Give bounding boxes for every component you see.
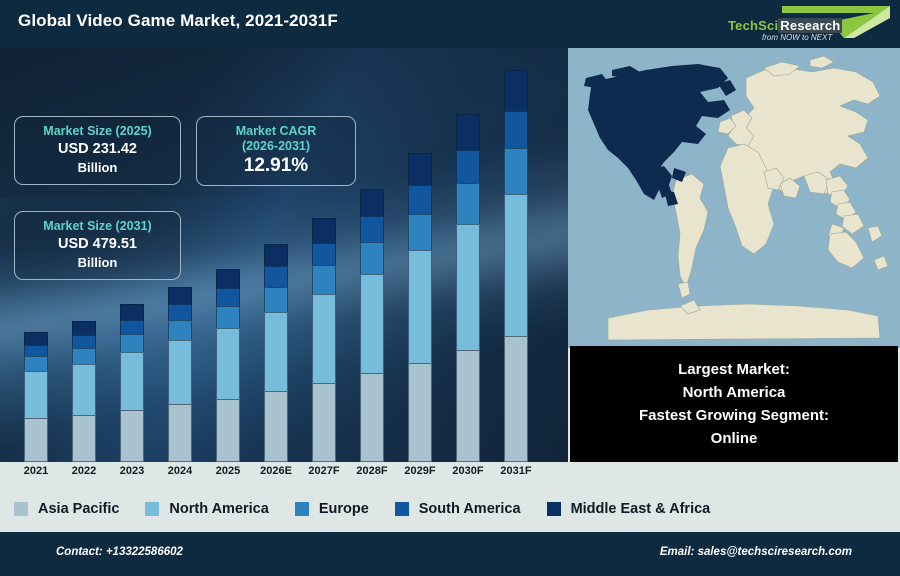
bar-segment-2022-asia-pacific (72, 415, 96, 462)
bar-segment-2022-north-america (72, 364, 96, 415)
bar-segment-2026E-europe (264, 287, 288, 313)
logo-tagline: from NOW to NEXT (762, 33, 832, 42)
logo-text-techsci: TechSci (728, 18, 778, 33)
legend-swatch-icon (547, 502, 561, 516)
bar-segment-2024-asia-pacific (168, 404, 192, 462)
footer-bar: Contact: +13322586602 Email: sales@techs… (0, 532, 900, 576)
techsci-research-logo: TechSciResearch from NOW to NEXT (722, 4, 892, 44)
x-axis-label-2027F: 2027F (297, 465, 351, 477)
highlight-fastest-segment-value: Online (711, 427, 758, 450)
bar-segment-2024-europe (168, 320, 192, 340)
bar-segment-2029F-south-america (408, 185, 432, 214)
bar-segment-2031F-asia-pacific (504, 336, 528, 462)
bar-segment-2021-asia-pacific (24, 418, 48, 462)
bar-segment-2027F-asia-pacific (312, 383, 336, 462)
chart-panel: Market Size (2025) USD 231.42 Billion Ma… (0, 48, 568, 462)
bar-segment-2023-north-america (120, 352, 144, 410)
legend-swatch-icon (145, 502, 159, 516)
x-axis-label-2028F: 2028F (345, 465, 399, 477)
bar-segment-2027F-south-america (312, 243, 336, 265)
bar-segment-2026E-asia-pacific (264, 391, 288, 462)
highlight-largest-market-label: Largest Market: (678, 358, 790, 381)
legend-item-asia-pacific[interactable]: Asia Pacific (14, 501, 119, 517)
bar-segment-2029F-north-america (408, 250, 432, 362)
x-axis-label-2030F: 2030F (441, 465, 495, 477)
bar-segment-2025-south-america (216, 288, 240, 306)
bar-segment-2028F-asia-pacific (360, 373, 384, 462)
bar-segment-2029F-europe (408, 214, 432, 250)
bar-segment-2027F-north-america (312, 294, 336, 383)
bar-segment-2030F-middle-east-africa (456, 114, 480, 150)
legend-label: North America (169, 501, 268, 517)
bar-2023 (120, 304, 144, 462)
bar-segment-2024-south-america (168, 304, 192, 320)
bar-segment-2023-europe (120, 334, 144, 352)
stacked-bar-plot (0, 48, 568, 462)
bar-segment-2028F-north-america (360, 274, 384, 373)
bar-segment-2025-middle-east-africa (216, 269, 240, 288)
x-axis-label-2023: 2023 (105, 465, 159, 477)
bar-segment-2029F-asia-pacific (408, 363, 432, 462)
bar-segment-2025-north-america (216, 328, 240, 399)
bar-2025 (216, 269, 240, 462)
legend-item-middle-east-africa[interactable]: Middle East & Africa (547, 501, 711, 517)
highlight-fastest-segment-label: Fastest Growing Segment: (639, 404, 829, 427)
x-axis-label-2025: 2025 (201, 465, 255, 477)
bar-segment-2022-south-america (72, 335, 96, 348)
bar-2022 (72, 321, 96, 462)
bar-segment-2028F-south-america (360, 216, 384, 242)
logo-wordmark: TechSciResearch (728, 18, 842, 33)
x-axis-label-2029F: 2029F (393, 465, 447, 477)
bar-segment-2023-middle-east-africa (120, 304, 144, 320)
bar-segment-2028F-middle-east-africa (360, 189, 384, 217)
world-map (568, 48, 900, 348)
legend-swatch-icon (295, 502, 309, 516)
chart-legend: Asia PacificNorth AmericaEuropeSouth Ame… (0, 486, 900, 532)
bar-segment-2026E-south-america (264, 266, 288, 286)
bar-segment-2031F-south-america (504, 111, 528, 148)
legend-item-north-america[interactable]: North America (145, 501, 268, 517)
legend-label: Europe (319, 501, 369, 517)
bar-segment-2027F-europe (312, 265, 336, 294)
legend-label: Asia Pacific (38, 501, 119, 517)
bar-segment-2025-europe (216, 306, 240, 328)
footer-contact: Contact: +13322586602 (56, 546, 183, 558)
bar-segment-2022-middle-east-africa (72, 321, 96, 335)
bar-segment-2021-south-america (24, 345, 48, 357)
bar-segment-2030F-south-america (456, 150, 480, 183)
bar-2027F (312, 218, 336, 462)
highlight-panel: Largest Market: North America Fastest Gr… (570, 346, 898, 462)
x-axis-label-2031F: 2031F (489, 465, 543, 477)
bar-segment-2023-south-america (120, 320, 144, 334)
x-axis-label-2021: 2021 (9, 465, 63, 477)
x-axis: 202120222023202420252026E2027F2028F2029F… (0, 462, 568, 486)
x-axis-label-2026E: 2026E (249, 465, 303, 477)
bar-segment-2026E-middle-east-africa (264, 244, 288, 266)
footer-email: Email: sales@techsciresearch.com (660, 546, 852, 558)
bar-2021 (24, 332, 48, 462)
bar-2028F (360, 189, 384, 462)
x-axis-label-2024: 2024 (153, 465, 207, 477)
bar-segment-2021-north-america (24, 371, 48, 418)
legend-label: South America (419, 501, 521, 517)
bar-2024 (168, 287, 192, 462)
bar-segment-2030F-europe (456, 183, 480, 224)
world-map-svg (568, 48, 900, 348)
bar-segment-2021-middle-east-africa (24, 332, 48, 345)
infographic-root: Global Video Game Market, 2021-2031F Tec… (0, 0, 900, 576)
legend-label: Middle East & Africa (571, 501, 711, 517)
bar-segment-2030F-asia-pacific (456, 350, 480, 462)
bar-segment-2024-middle-east-africa (168, 287, 192, 304)
legend-item-europe[interactable]: Europe (295, 501, 369, 517)
bar-segment-2028F-europe (360, 242, 384, 274)
bar-segment-2025-asia-pacific (216, 399, 240, 462)
bar-2031F (504, 70, 528, 462)
legend-swatch-icon (14, 502, 28, 516)
bar-segment-2031F-middle-east-africa (504, 70, 528, 111)
bar-segment-2031F-north-america (504, 194, 528, 336)
bar-segment-2030F-north-america (456, 224, 480, 350)
bar-segment-2027F-middle-east-africa (312, 218, 336, 243)
bar-2030F (456, 114, 480, 462)
highlight-largest-market-value: North America (683, 381, 786, 404)
header-bar: Global Video Game Market, 2021-2031F Tec… (0, 0, 900, 48)
logo-text-research: Research (778, 18, 842, 33)
bar-2029F (408, 153, 432, 462)
legend-item-south-america[interactable]: South America (395, 501, 521, 517)
bar-segment-2026E-north-america (264, 312, 288, 391)
bar-segment-2024-north-america (168, 340, 192, 404)
page-title: Global Video Game Market, 2021-2031F (18, 11, 338, 31)
bar-segment-2029F-middle-east-africa (408, 153, 432, 185)
bar-segment-2021-europe (24, 356, 48, 371)
bar-2026E (264, 244, 288, 462)
bar-segment-2031F-europe (504, 148, 528, 194)
bar-segment-2023-asia-pacific (120, 410, 144, 462)
bar-segment-2022-europe (72, 348, 96, 364)
x-axis-label-2022: 2022 (57, 465, 111, 477)
legend-swatch-icon (395, 502, 409, 516)
